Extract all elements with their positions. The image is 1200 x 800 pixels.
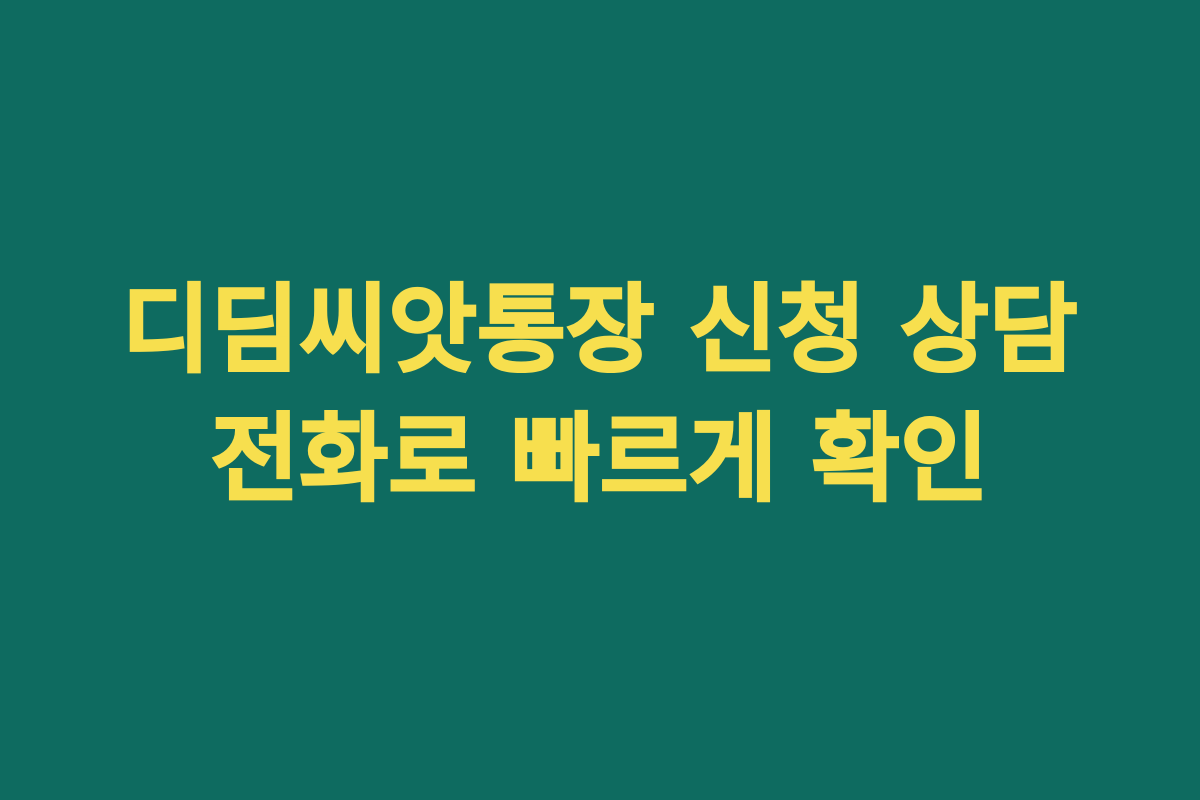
headline-block: 디딤씨앗통장 신청 상담 전화로 빠르게 확인 — [0, 266, 1200, 523]
text-banner: 디딤씨앗통장 신청 상담 전화로 빠르게 확인 — [0, 0, 1200, 800]
headline-line-2: 전화로 빠르게 확인 — [0, 395, 1200, 524]
headline-line-1: 디딤씨앗통장 신청 상담 — [0, 266, 1200, 395]
